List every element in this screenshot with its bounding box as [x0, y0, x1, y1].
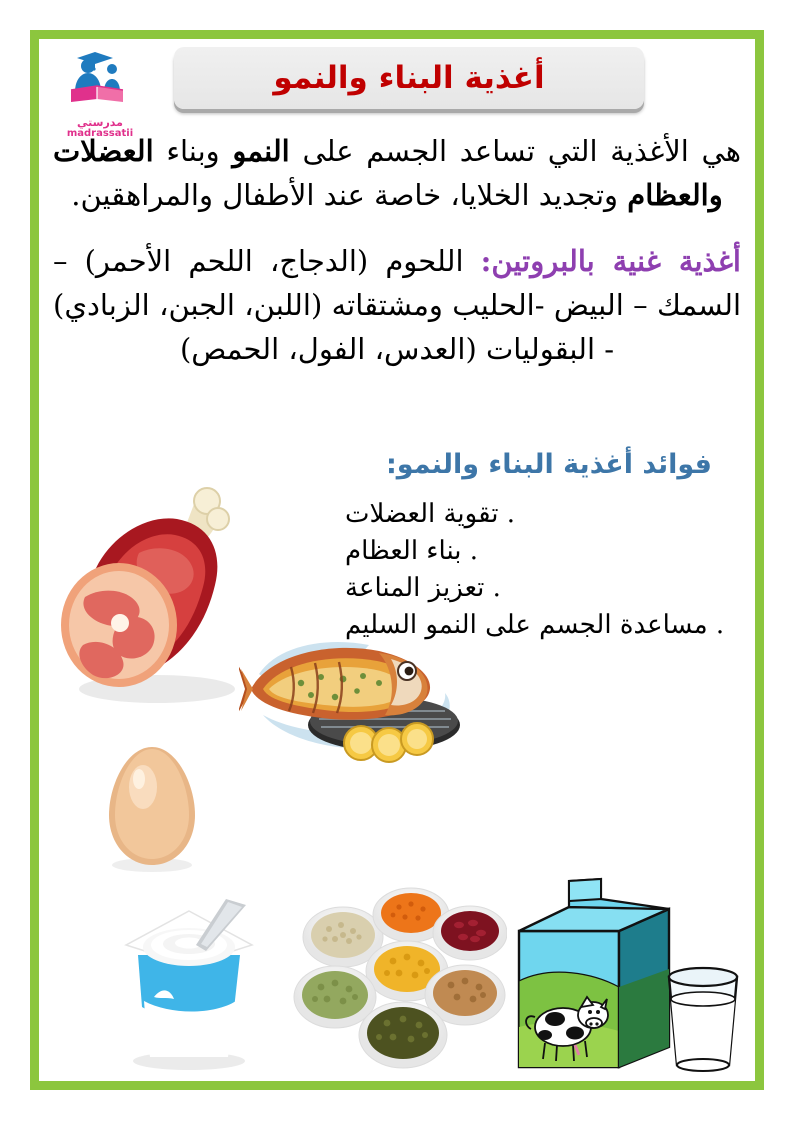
- benefit-item: . بناء العظام: [339, 533, 755, 570]
- protein-heading: أغذية غنية بالبروتين:: [481, 244, 741, 278]
- benefit-bullet: .: [470, 536, 478, 566]
- benefit-item: . تقوية العضلات: [339, 496, 755, 533]
- intro-bold-growth: النمو: [232, 134, 289, 168]
- logo-arabic-name: مدرستي: [57, 117, 143, 129]
- benefit-text: تقوية العضلات: [345, 499, 499, 529]
- intro-part-3: وتجديد الخلايا، خاصة عند الأطفال والمراه…: [71, 178, 627, 212]
- legumes-bowls-image: [287, 887, 507, 1077]
- header: مدرستي madrassatii أغذية البناء والنمو: [39, 39, 755, 119]
- benefit-bullet: .: [507, 499, 515, 529]
- protein-paragraph: أغذية غنية بالبروتين: اللحوم (الدجاج، ال…: [53, 239, 741, 371]
- logo-icon: [57, 45, 143, 119]
- milk-carton-image: [501, 869, 741, 1079]
- benefit-bullet: .: [716, 610, 724, 640]
- madrassatii-logo: مدرستي madrassatii: [57, 45, 143, 119]
- benefit-item: . تعزيز المناعة: [339, 570, 755, 607]
- benefits-section: فوائد أغذية البناء والنمو: . تقوية العضل…: [339, 449, 755, 644]
- benefit-text: مساعدة الجسم على النمو السليم: [345, 610, 708, 640]
- benefit-item: . مساعدة الجسم على النمو السليم: [339, 607, 755, 644]
- egg-image: [89, 739, 214, 874]
- page-title: أغذية البناء والنمو: [273, 63, 544, 94]
- intro-paragraph: هي الأغذية التي تساعد الجسم على النمو وب…: [53, 129, 741, 217]
- yogurt-cup-image: [94, 889, 284, 1074]
- benefits-heading: فوائد أغذية البناء والنمو:: [339, 449, 755, 480]
- page-frame: مدرستي madrassatii أغذية البناء والنمو: [30, 30, 764, 1090]
- page-inner: مدرستي madrassatii أغذية البناء والنمو: [39, 39, 755, 1081]
- intro-part-1: هي الأغذية التي تساعد الجسم على: [290, 134, 741, 168]
- content-body: هي الأغذية التي تساعد الجسم على النمو وب…: [39, 129, 755, 371]
- benefit-text: بناء العظام: [345, 536, 462, 566]
- benefit-bullet: .: [493, 573, 501, 603]
- benefit-text: تعزيز المناعة: [345, 573, 484, 603]
- title-banner: أغذية البناء والنمو: [174, 47, 644, 109]
- intro-part-2: وبناء: [154, 134, 233, 168]
- ham-leg-image: [47, 457, 262, 717]
